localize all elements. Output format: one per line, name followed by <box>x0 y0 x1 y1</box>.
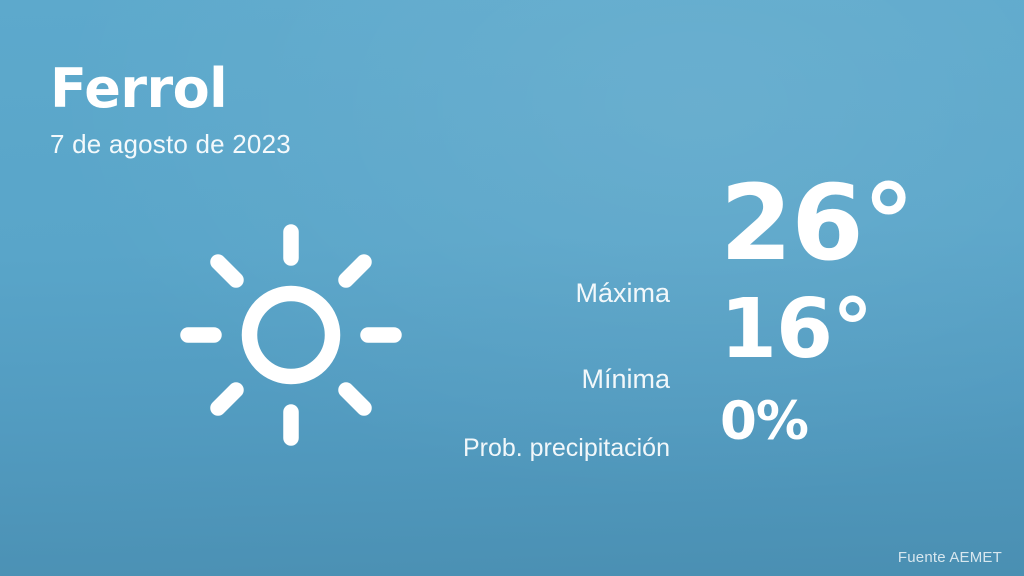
reading-label-precipitacion: Prob. precipitación <box>400 434 670 463</box>
reading-value-maxima: 26° <box>670 168 960 278</box>
reading-value-minima: 16° <box>670 278 960 382</box>
forecast-date: 7 de agosto de 2023 <box>50 131 291 157</box>
city-name: Ferrol <box>50 62 291 116</box>
sun-clear-icon <box>176 220 406 450</box>
reading-row-maxima: Máxima 26° <box>400 168 960 278</box>
source-attribution: Fuente AEMET <box>898 549 1002 566</box>
card-header: Ferrol 7 de agosto de 2023 <box>50 62 291 157</box>
readings-list: Máxima 26° Mínima 16° Prob. precipitació… <box>400 168 960 462</box>
reading-label-maxima: Máxima <box>400 278 670 309</box>
reading-label-minima: Mínima <box>400 364 670 395</box>
weather-forecast-card: Ferrol 7 de agosto de 2023 Máxima 26° <box>0 0 1024 576</box>
reading-value-precipitacion: 0% <box>670 382 960 462</box>
